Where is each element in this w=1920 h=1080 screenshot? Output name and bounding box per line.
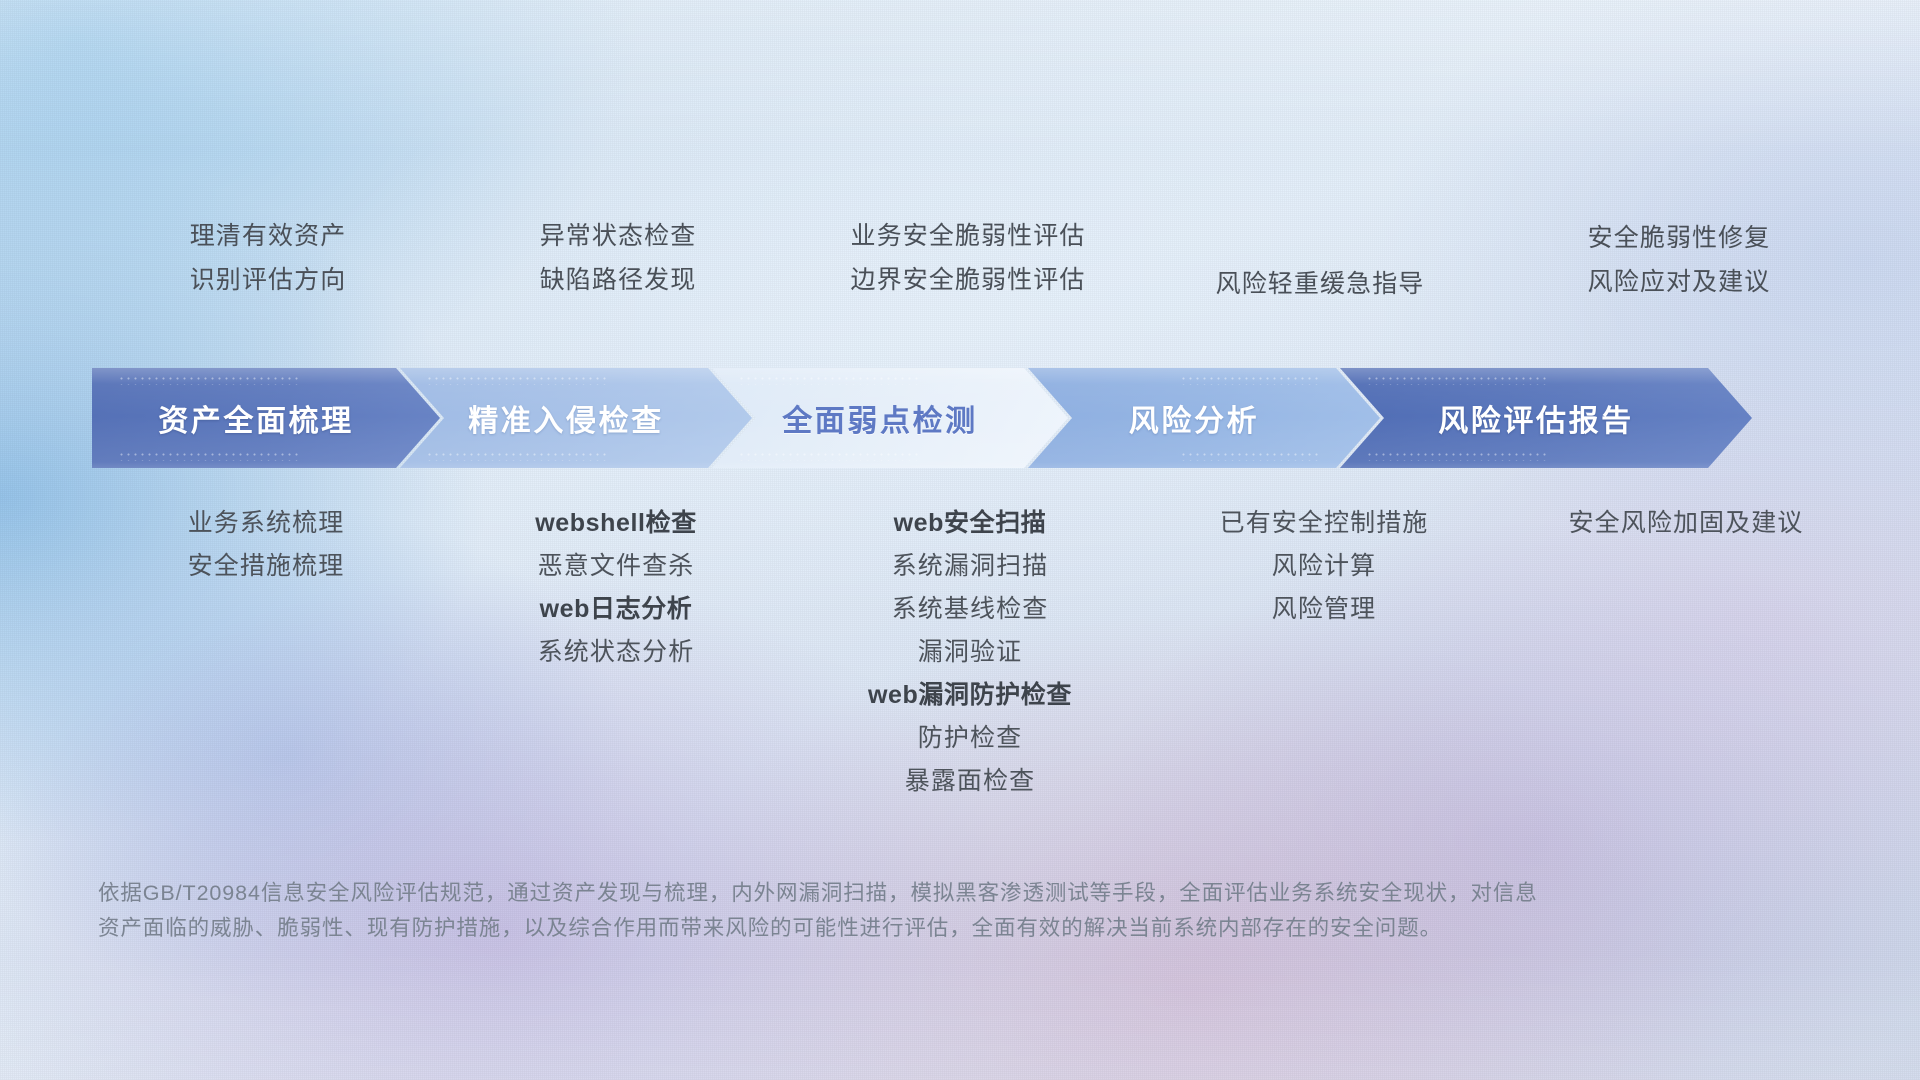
outcome-text: 理清有效资产 [190,222,347,252]
chevron-dot-pattern-top [1366,375,1546,385]
chevron-dot-pattern-top [1180,375,1320,385]
activity-text: 安全风险加固及建议 [1569,508,1804,538]
activity-text: web日志分析 [540,594,693,624]
stage-3-activities: web安全扫描 系统漏洞扫描 系统基线检查 漏洞验证 web漏洞防护检查 防护检… [792,508,1148,848]
stage-1-activities: 业务系统梳理 安全措施梳理 [92,508,440,848]
stage-label: 资产全面梳理 [158,396,354,440]
activity-text: webshell检查 [535,508,697,538]
footer-description: 依据GB/T20984信息安全风险评估规范，通过资产发现与梳理，内外网漏洞扫描，… [98,876,1738,946]
activity-text: 风险计算 [1272,551,1376,581]
stage-label: 风险评估报告 [1438,396,1634,440]
outcome-text: 异常状态检查 [540,222,697,252]
stage-5-activities: 安全风险加固及建议 [1500,508,1872,848]
stage-label: 精准入侵检查 [468,396,664,440]
stage-4-activities: 已有安全控制措施 风险计算 风险管理 [1148,508,1500,848]
activity-text: web漏洞防护检查 [868,680,1072,710]
stage-label: 全面弱点检测 [782,396,978,440]
chevron-dot-pattern-bottom [426,451,606,461]
stage-activities-row: 业务系统梳理 安全措施梳理 webshell检查 恶意文件查杀 web日志分析 … [92,508,1872,848]
stage-3-outcomes: 业务安全脆弱性评估 边界安全脆弱性评估 [792,222,1144,332]
stage-chevron-asset-inventory[interactable]: 资产全面梳理 [92,368,440,468]
stage-label: 风险分析 [1129,396,1259,440]
footer-line: 资产面临的威胁、脆弱性、现有防护措施，以及综合作用而带来风险的可能性进行评估，全… [98,911,1738,946]
chevron-dot-pattern-bottom [118,451,298,461]
chevron-dot-pattern-top [118,375,298,385]
outcome-text: 识别评估方向 [190,266,347,296]
diagram-canvas: 理清有效资产 识别评估方向 异常状态检查 缺陷路径发现 业务安全脆弱性评估 边界… [0,0,1920,1080]
chevron-dot-pattern-bottom [1180,451,1320,461]
chevron-dot-pattern-bottom [738,451,918,461]
outcome-text: 业务安全脆弱性评估 [851,222,1086,252]
activity-text: 业务系统梳理 [188,508,345,538]
outcome-text: 缺陷路径发现 [540,266,697,296]
stage-chevron-risk-analysis[interactable]: 风险分析 [1028,368,1380,468]
outcome-text: 风险应对及建议 [1588,268,1771,298]
process-chevron-band: 资产全面梳理 精准入侵检查 全面弱点检测 风险分析 [92,368,1872,468]
outcome-text: 安全脆弱性修复 [1588,224,1771,254]
stage-chevron-weakness-detection[interactable]: 全面弱点检测 [712,368,1068,468]
activity-text: 暴露面检查 [905,766,1036,796]
stage-2-activities: webshell检查 恶意文件查杀 web日志分析 系统状态分析 [440,508,792,848]
activity-text: 系统漏洞扫描 [892,551,1049,581]
chevron-dot-pattern-top [738,375,918,385]
activity-text: 恶意文件查杀 [538,551,695,581]
chevron-dot-pattern-top [426,375,606,385]
chevron-dot-pattern-bottom [1366,451,1546,461]
stage-4-outcomes: 风险轻重缓急指导 [1144,222,1496,332]
stage-1-outcomes: 理清有效资产 识别评估方向 [92,222,444,332]
activity-text: 防护检查 [918,723,1022,753]
activity-text: 安全措施梳理 [188,551,345,581]
outcome-text: 边界安全脆弱性评估 [851,266,1086,296]
footer-line: 依据GB/T20984信息安全风险评估规范，通过资产发现与梳理，内外网漏洞扫描，… [98,876,1738,911]
stage-outcomes-row: 理清有效资产 识别评估方向 异常状态检查 缺陷路径发现 业务安全脆弱性评估 边界… [92,222,1862,332]
activity-text: web安全扫描 [894,508,1047,538]
activity-text: 风险管理 [1272,594,1376,624]
stage-5-outcomes: 安全脆弱性修复 风险应对及建议 [1496,222,1862,332]
stage-chevron-risk-report[interactable]: 风险评估报告 [1340,368,1752,468]
stage-2-outcomes: 异常状态检查 缺陷路径发现 [444,222,792,332]
activity-text: 系统基线检查 [892,594,1049,624]
outcome-text: 风险轻重缓急指导 [1216,270,1425,300]
stage-chevron-intrusion-check[interactable]: 精准入侵检查 [400,368,752,468]
activity-text: 系统状态分析 [538,637,695,667]
activity-text: 已有安全控制措施 [1220,508,1429,538]
activity-text: 漏洞验证 [918,637,1022,667]
